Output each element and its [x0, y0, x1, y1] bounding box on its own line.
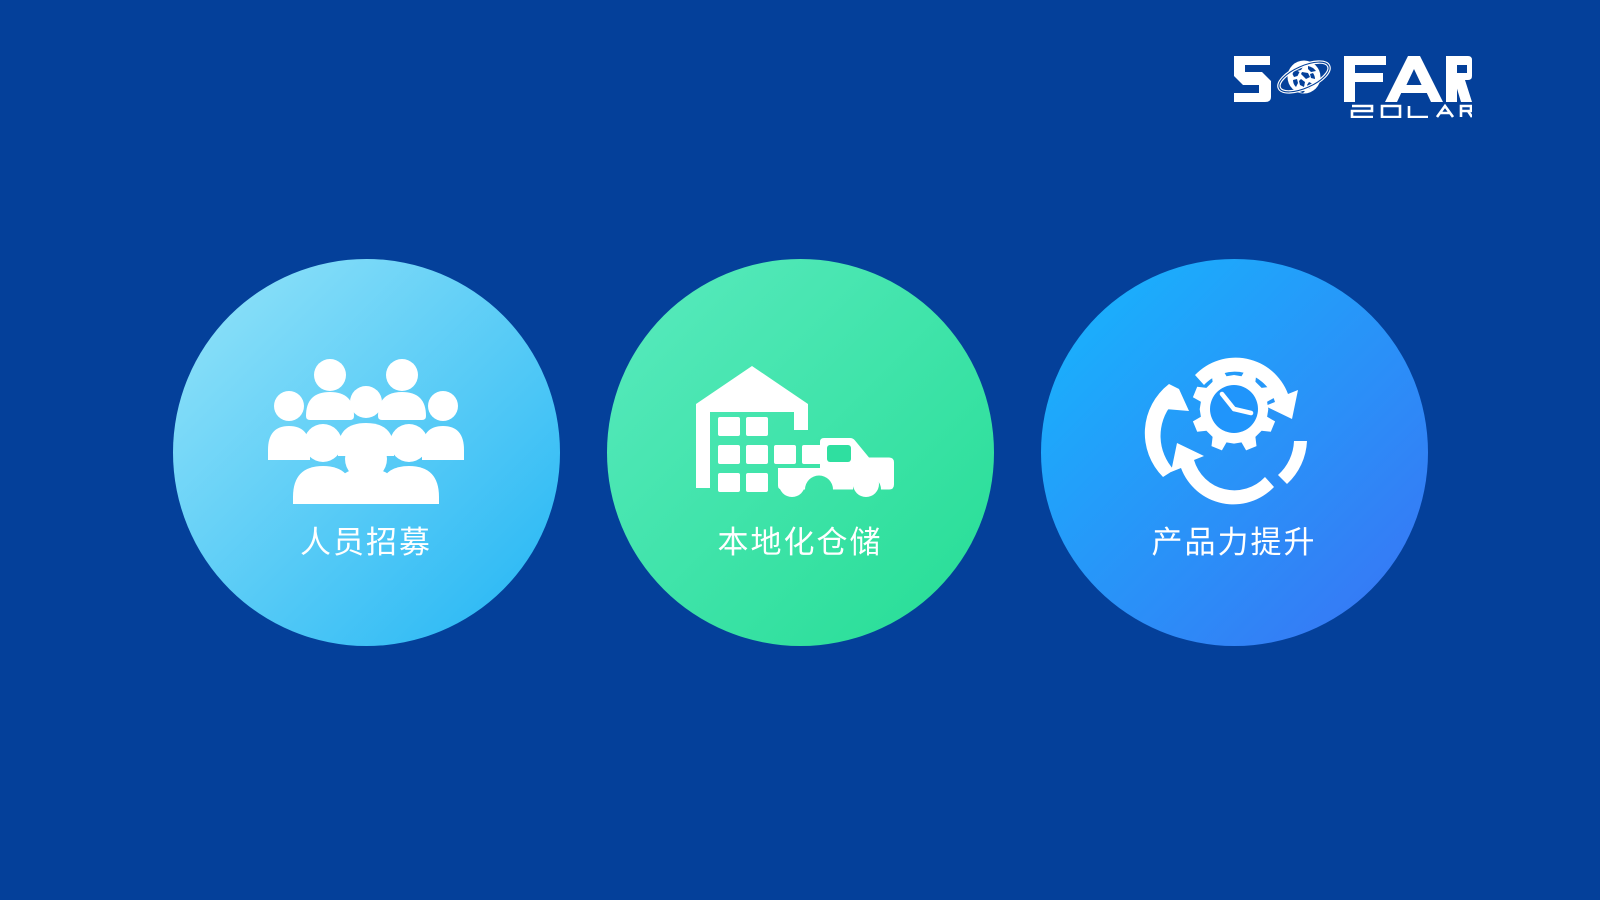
globe-orbit-icon: [1275, 56, 1333, 98]
warehouse-truck-icon: [700, 359, 900, 504]
sofar-solar-logo: [1232, 46, 1472, 118]
gear-clock-refresh-icon: [1134, 359, 1334, 504]
feature-card-product-capability[interactable]: 产品力提升: [1041, 259, 1428, 646]
slide-canvas: 人员招募: [0, 0, 1600, 900]
feature-card-label: 人员招募: [300, 528, 432, 559]
feature-card-recruitment[interactable]: 人员招募: [173, 259, 560, 646]
people-group-icon: [266, 359, 466, 504]
feature-circle-row: 人员招募: [0, 252, 1600, 652]
feature-card-label: 产品力提升: [1152, 528, 1317, 559]
feature-card-label: 本地化仓储: [718, 528, 883, 559]
logo-subtitle: [1352, 106, 1472, 117]
feature-card-warehousing[interactable]: 本地化仓储: [607, 259, 994, 646]
